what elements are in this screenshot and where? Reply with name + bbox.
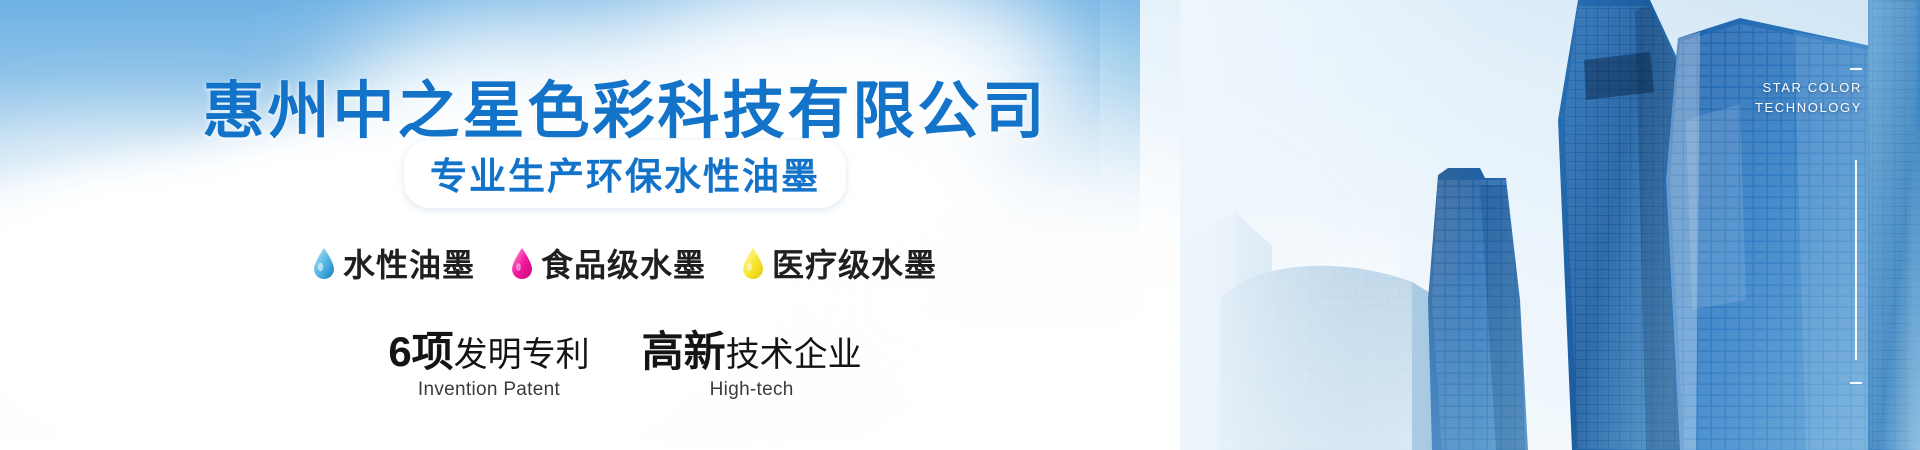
feature-label: 水性油墨 (343, 240, 475, 286)
feature-label: 食品级水墨 (541, 240, 706, 286)
company-hero-banner: Star Color (0, 0, 1920, 450)
skyscraper-photo (1180, 0, 1920, 450)
feature-item: 食品级水墨 (511, 240, 706, 286)
credential-badge: 高新技术企业 High-tech (642, 330, 862, 401)
credential-en: Invention Patent (388, 379, 589, 401)
credential-cn: 6项发明专利 (388, 330, 589, 375)
credential-rest: 发明专利 (454, 336, 590, 374)
credential-rest: 技术企业 (726, 336, 862, 374)
credential-highlight: 6项 (388, 328, 453, 375)
feature-list: 水性油墨 食品级水墨 (0, 240, 1250, 286)
company-title: 惠州中之星色彩科技有限公司 (0, 60, 1250, 150)
corner-brand-label: STAR COLOR TECHNOLOGY (1755, 78, 1862, 118)
banner-content: 惠州中之星色彩科技有限公司 专业生产环保水性油墨 水性油墨 (0, 0, 1250, 450)
corner-vertical-rule (1855, 160, 1857, 360)
feature-item: 医疗级水墨 (742, 240, 937, 286)
corner-brand-line2: TECHNOLOGY (1755, 98, 1862, 118)
feature-label: 医疗级水墨 (772, 240, 937, 286)
water-drop-icon (313, 247, 335, 279)
corner-tick-top (1850, 68, 1862, 70)
credential-en: High-tech (642, 379, 862, 401)
corner-brand-line1: STAR COLOR (1755, 78, 1862, 98)
corner-tick-bottom (1850, 382, 1862, 384)
credential-badge: 6项发明专利 Invention Patent (388, 330, 589, 401)
feature-item: 水性油墨 (313, 240, 475, 286)
subtitle-pill: 专业生产环保水性油墨 (404, 140, 846, 208)
credential-badges: 6项发明专利 Invention Patent 高新技术企业 High-tech (0, 330, 1250, 401)
water-drop-icon (511, 247, 533, 279)
credential-cn: 高新技术企业 (642, 330, 862, 375)
subtitle-pill-wrap: 专业生产环保水性油墨 (0, 140, 1250, 208)
credential-highlight: 高新 (642, 328, 726, 375)
water-drop-icon (742, 247, 764, 279)
